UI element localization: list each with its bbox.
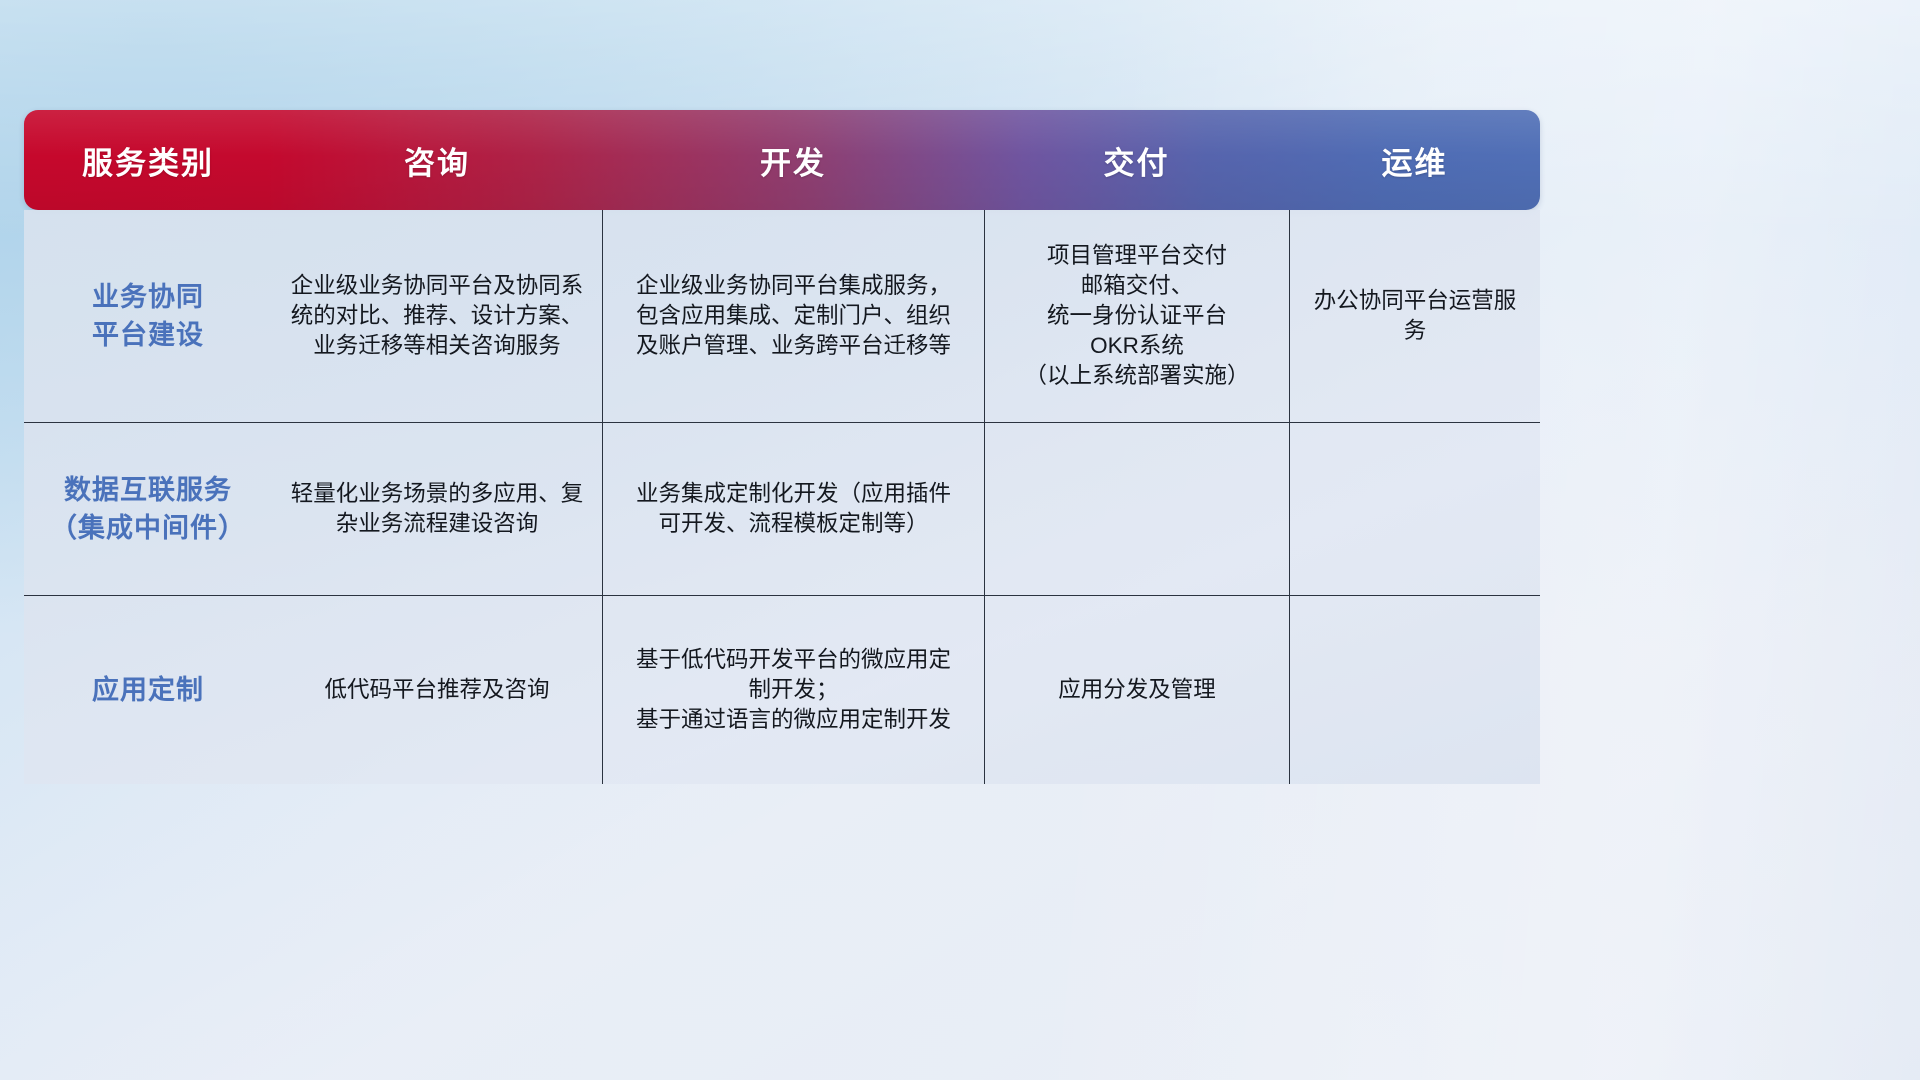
table-row: 应用定制 低代码平台推荐及咨询 基于低代码开发平台的微应用定 制开发； 基于通过… (24, 595, 1540, 784)
row-3-delivery: 应用分发及管理 (984, 596, 1289, 784)
row-3-consulting: 低代码平台推荐及咨询 (272, 596, 602, 784)
row-1-development: 企业级业务协同平台集成服务， 包含应用集成、定制门户、组织 及账户管理、业务跨平… (602, 210, 984, 422)
column-header-category: 服务类别 (24, 110, 272, 210)
row-3-operations (1289, 596, 1540, 784)
table-header-row: 服务类别 咨询 开发 交付 运维 (24, 110, 1540, 210)
column-header-development: 开发 (602, 110, 984, 210)
service-matrix-table: 服务类别 咨询 开发 交付 运维 业务协同 平台建设 企业级业务协同平台及协同系… (24, 110, 1540, 782)
row-2-consulting: 轻量化业务场景的多应用、复 杂业务流程建设咨询 (272, 423, 602, 595)
column-header-consulting: 咨询 (272, 110, 602, 210)
row-3-category: 应用定制 (24, 596, 272, 784)
row-1-operations: 办公协同平台运营服务 (1289, 210, 1540, 422)
row-2-delivery (984, 423, 1289, 595)
slide-canvas: 服务类别 咨询 开发 交付 运维 业务协同 平台建设 企业级业务协同平台及协同系… (0, 0, 1920, 1080)
row-1-category: 业务协同 平台建设 (24, 210, 272, 422)
row-3-development: 基于低代码开发平台的微应用定 制开发； 基于通过语言的微应用定制开发 (602, 596, 984, 784)
row-2-operations (1289, 423, 1540, 595)
row-1-consulting: 企业级业务协同平台及协同系 统的对比、推荐、设计方案、 业务迁移等相关咨询服务 (272, 210, 602, 422)
table-body: 业务协同 平台建设 企业级业务协同平台及协同系 统的对比、推荐、设计方案、 业务… (24, 210, 1540, 784)
column-header-operations: 运维 (1289, 110, 1540, 210)
row-1-delivery: 项目管理平台交付 邮箱交付、 统一身份认证平台 OKR系统 （以上系统部署实施） (984, 210, 1289, 422)
table-row: 数据互联服务 （集成中间件） 轻量化业务场景的多应用、复 杂业务流程建设咨询 业… (24, 422, 1540, 595)
row-2-category: 数据互联服务 （集成中间件） (24, 423, 272, 595)
table-row: 业务协同 平台建设 企业级业务协同平台及协同系 统的对比、推荐、设计方案、 业务… (24, 210, 1540, 422)
row-2-development: 业务集成定制化开发（应用插件 可开发、流程模板定制等） (602, 423, 984, 595)
column-header-delivery: 交付 (984, 110, 1289, 210)
